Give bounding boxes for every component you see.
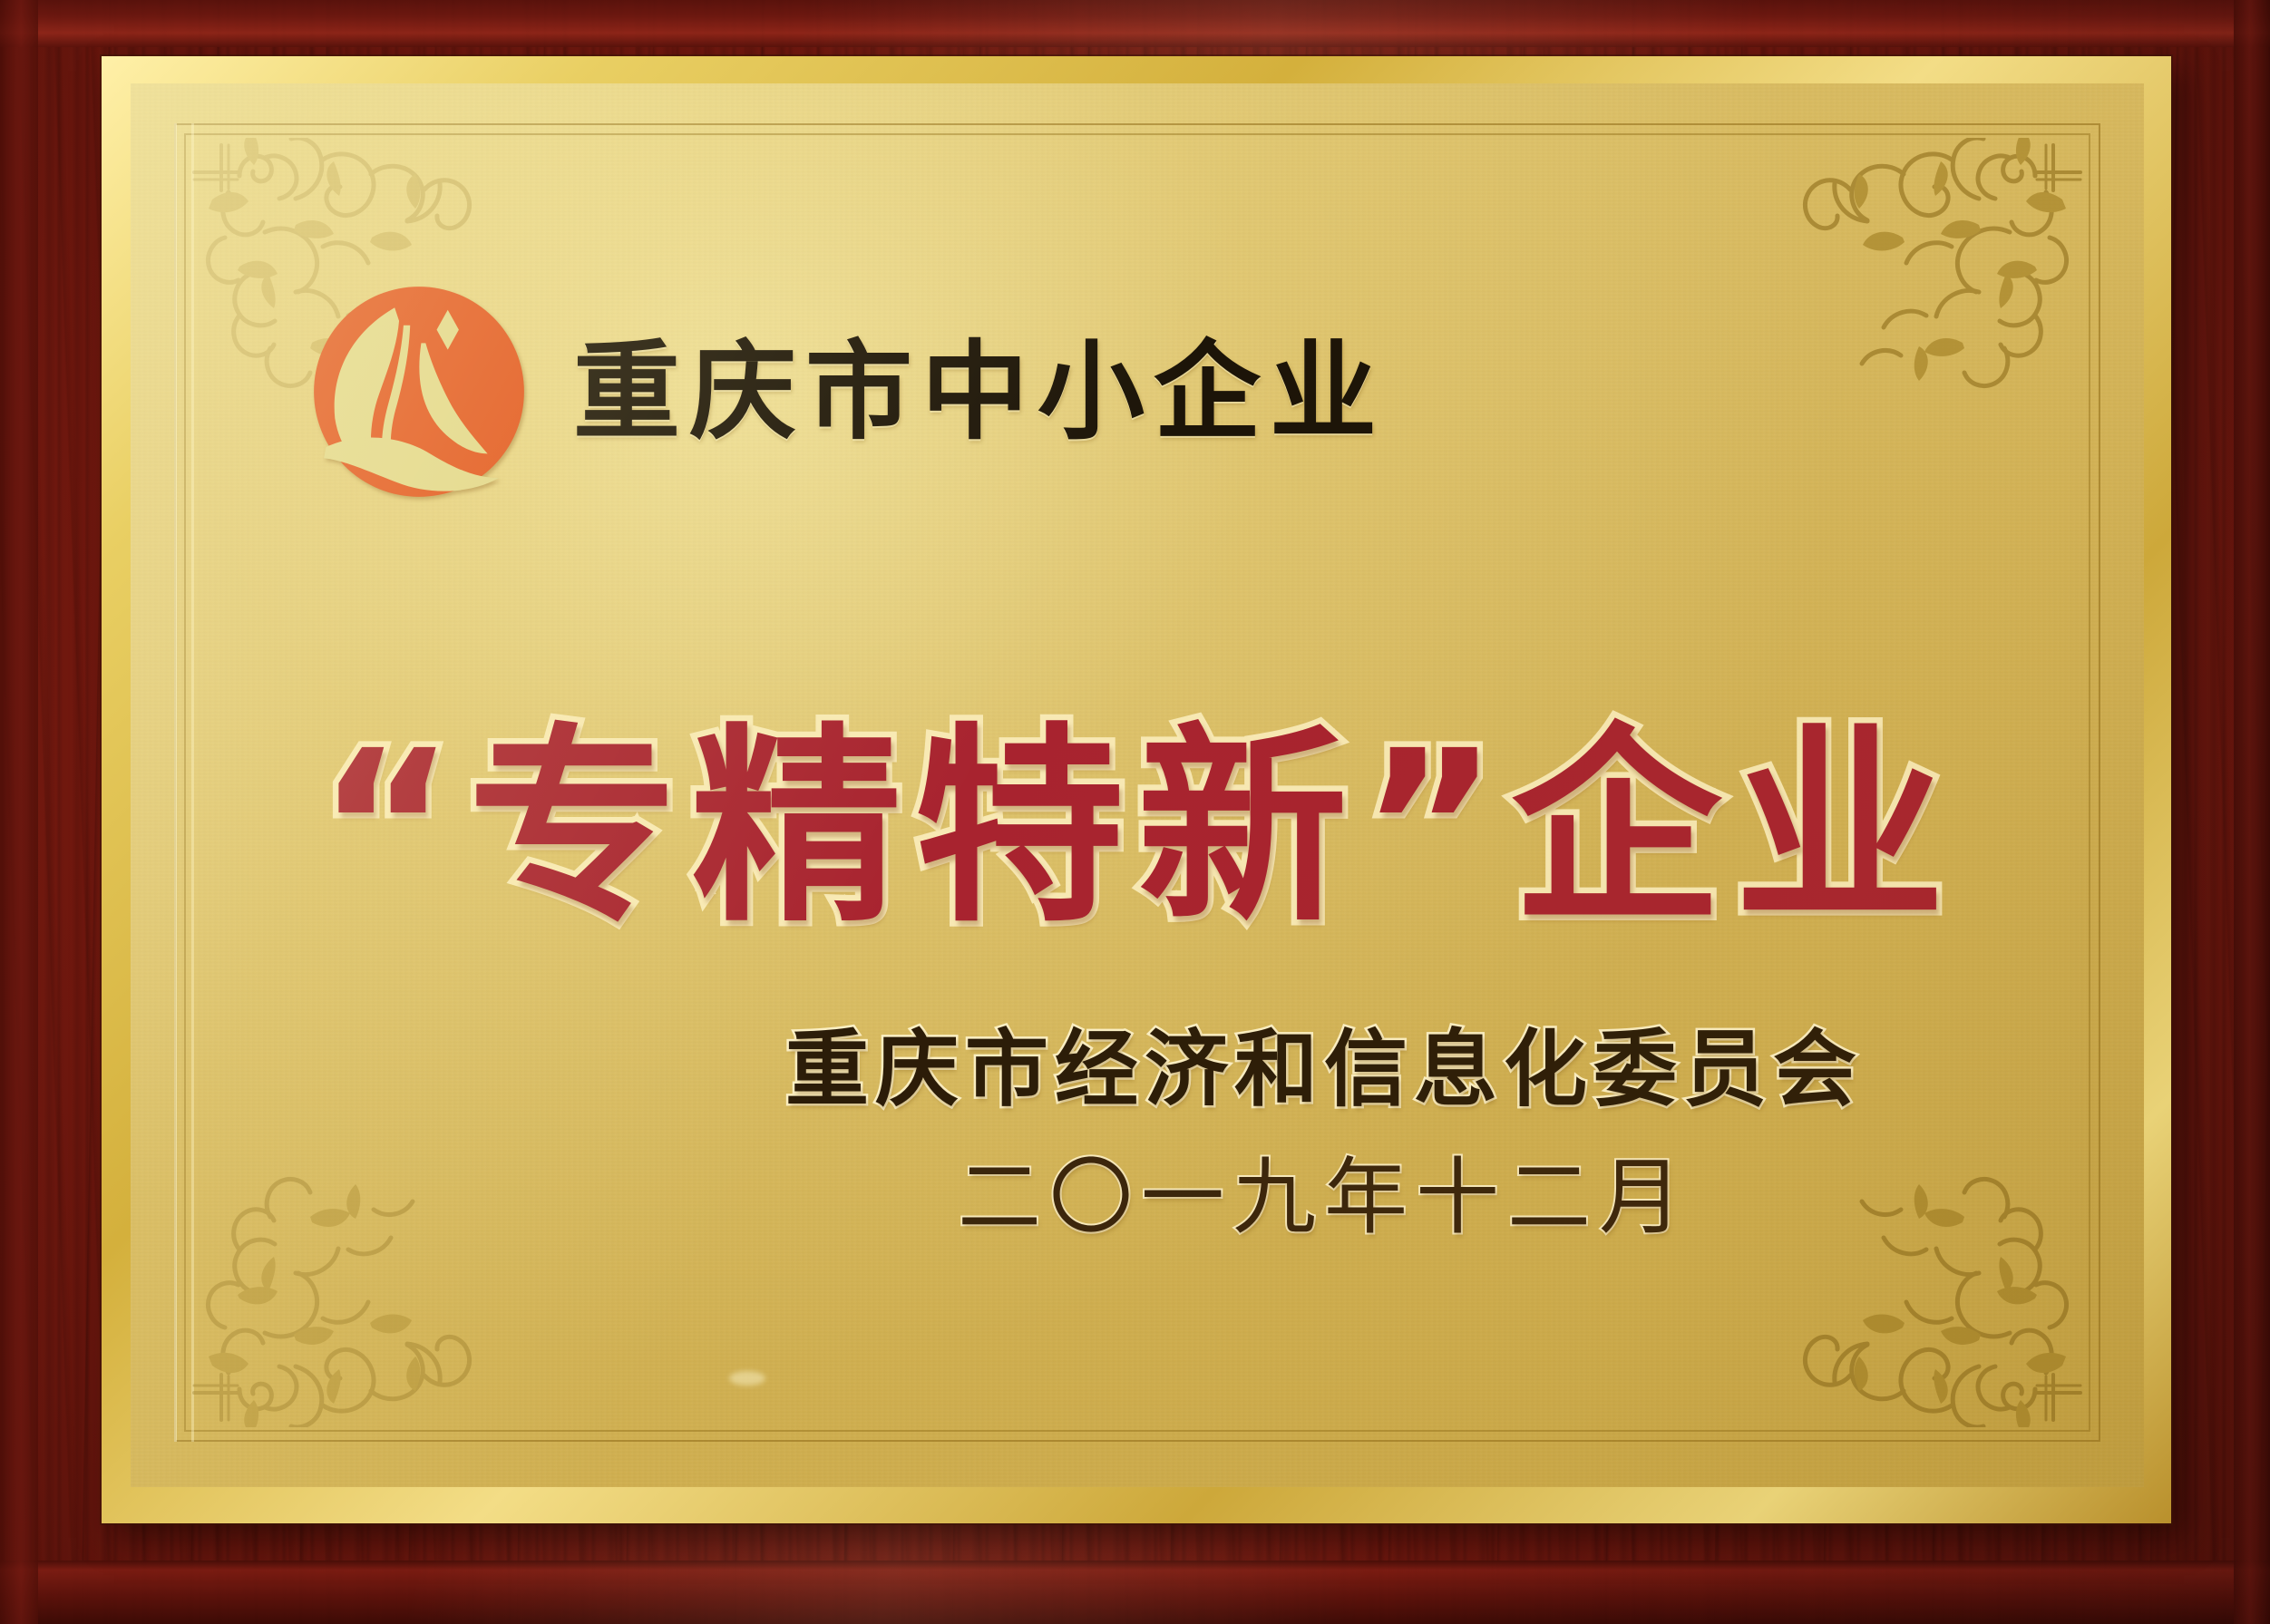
- frame-bevel-top: [0, 0, 2270, 47]
- frame-bevel-bottom: [0, 1561, 2270, 1624]
- issuing-authority: 重庆市经济和信息化委员会: [785, 1016, 1863, 1123]
- plaque-content: 重庆市中小企业 “专精特新”企业 重庆市经济和信息化委员会 二〇一九年十二月: [131, 83, 2144, 1487]
- organization-name: 重庆市中小企业: [573, 338, 1386, 445]
- issue-date: 二〇一九年十二月: [785, 1145, 1863, 1250]
- plaque-header: 重庆市中小企业: [308, 281, 1386, 502]
- sailboat-wave-circle-icon: [308, 281, 530, 502]
- plate-face: 重庆市中小企业 “专精特新”企业 重庆市经济和信息化委员会 二〇一九年十二月: [131, 83, 2144, 1487]
- gold-plate: 重庆市中小企业 “专精特新”企业 重庆市经济和信息化委员会 二〇一九年十二月: [102, 56, 2171, 1523]
- award-title: “专精特新”企业: [131, 718, 2144, 939]
- frame-bevel-left: [0, 0, 38, 1624]
- frame-bevel-right: [2234, 0, 2270, 1624]
- signature-block: 重庆市经济和信息化委员会 二〇一九年十二月: [785, 1016, 1863, 1250]
- award-plaque: 重庆市中小企业 “专精特新”企业 重庆市经济和信息化委员会 二〇一九年十二月: [0, 0, 2270, 1624]
